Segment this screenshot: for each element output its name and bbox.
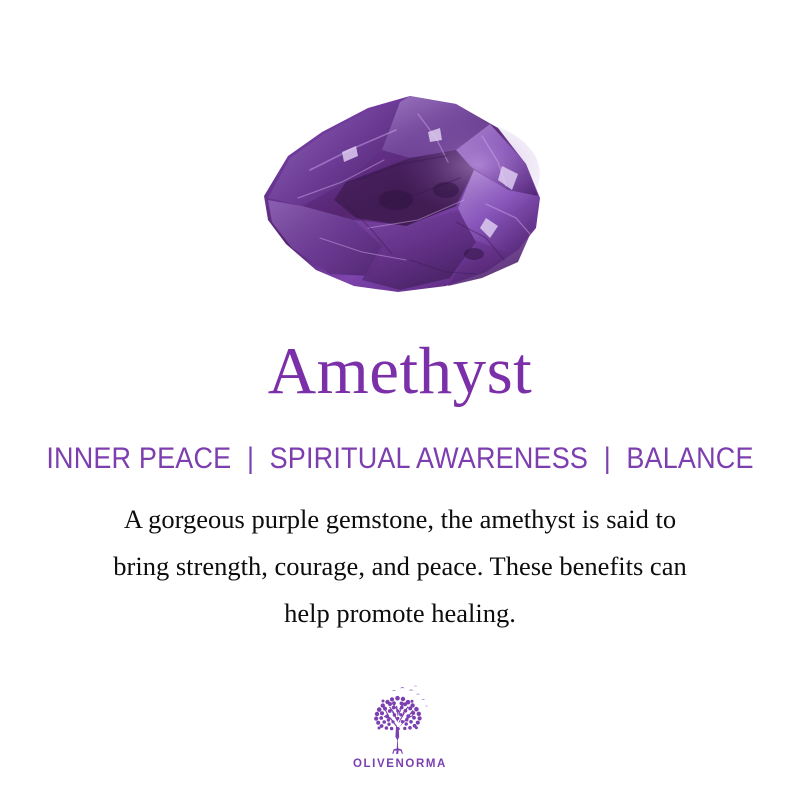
page-title: Amethyst <box>0 334 800 408</box>
gemstone-image-container <box>0 70 800 310</box>
tree-with-birds-icon <box>358 684 442 756</box>
keyword-separator-2: | <box>596 441 619 477</box>
keyword-separator-1: | <box>239 441 262 477</box>
keyword-inner-peace: INNER PEACE <box>46 442 231 475</box>
description-line-2: bring strength, courage, and peace. Thes… <box>44 543 756 590</box>
product-info-card: Amethyst INNER PEACE | SPIRITUAL AWARENE… <box>0 0 800 800</box>
description-line-1: A gorgeous purple gemstone, the amethyst… <box>44 496 756 543</box>
description-line-3: help promote healing. <box>44 590 756 637</box>
amethyst-raw-crystal-image <box>250 78 550 303</box>
brand-name: OLIVENORMA <box>353 758 447 770</box>
keyword-spiritual-awareness: SPIRITUAL AWARENESS <box>270 442 589 475</box>
keyword-balance: BALANCE <box>626 442 753 475</box>
product-description: A gorgeous purple gemstone, the amethyst… <box>44 496 756 637</box>
keyword-line: INNER PEACE | SPIRITUAL AWARENESS | BALA… <box>40 441 760 477</box>
brand-logo: OLIVENORMA <box>0 684 800 770</box>
